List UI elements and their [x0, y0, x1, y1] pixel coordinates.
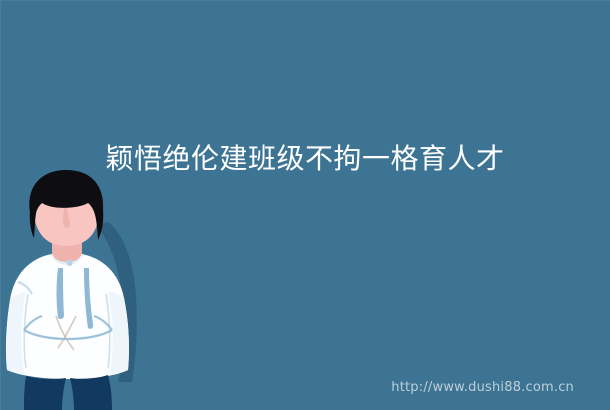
hoodie — [6, 253, 129, 379]
student-illustration — [0, 170, 160, 410]
pants — [24, 375, 112, 410]
watermark-url: http://www.dushi88.com.cn — [391, 380, 574, 396]
headline-text: 颖悟绝伦建班级不拘一格育人才 — [0, 141, 610, 177]
promo-banner: 颖悟绝伦建班级不拘一格育人才 http://www.dushi88.com.cn — [0, 0, 610, 410]
